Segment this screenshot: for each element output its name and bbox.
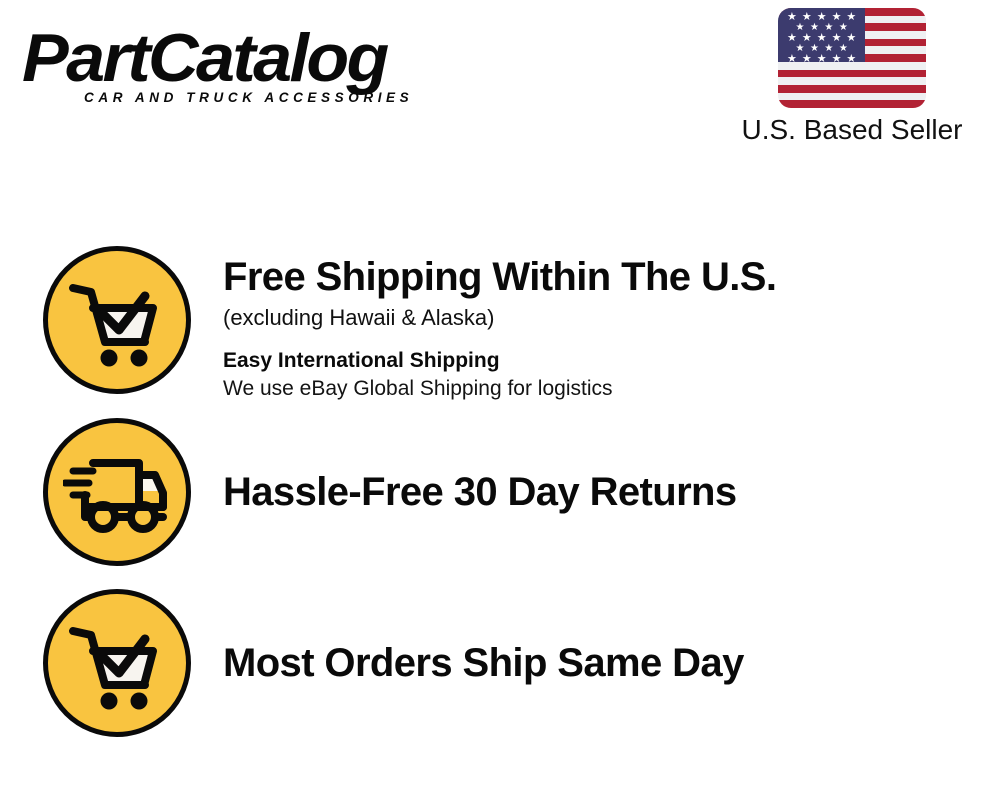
star-row: ★★★★★ [782,33,861,44]
us-flag-icon: ★★★★★ ★★★★ ★★★★★ ★★★★ ★★★★★ [778,8,926,108]
feature-heading: Free Shipping Within The U.S. [223,254,776,300]
us-based-seller-badge: ★★★★★ ★★★★ ★★★★★ ★★★★ ★★★★★ U.S. Based S… [716,8,988,146]
part-catalog-logo: PartCatalog CAR AND TRUCK ACCESSORIES [22,22,492,117]
delivery-truck-icon [43,418,191,566]
star-row: ★★★★★ [782,12,861,23]
feature-text: Free Shipping Within The U.S. (excluding… [223,246,776,403]
promo-banner: PartCatalog CAR AND TRUCK ACCESSORIES [0,0,1000,800]
feature-heading: Hassle-Free 30 Day Returns [223,469,737,515]
feature-note: (excluding Hawaii & Alaska) [223,303,776,333]
feature-row: Free Shipping Within The U.S. (excluding… [0,246,776,403]
seller-badge-label: U.S. Based Seller [742,114,963,146]
cart-check-icon [43,589,191,737]
feature-heading: Most Orders Ship Same Day [223,640,744,686]
brand-wordmark: PartCatalog [22,22,506,94]
feature-sub-heading: Easy International Shipping [223,346,776,375]
flag-canton: ★★★★★ ★★★★ ★★★★★ ★★★★ ★★★★★ [778,8,865,62]
feature-row: Most Orders Ship Same Day [0,589,744,737]
feature-text: Hassle-Free 30 Day Returns [223,469,737,515]
feature-sub-text: We use eBay Global Shipping for logistic… [223,375,776,403]
feature-text: Most Orders Ship Same Day [223,640,744,686]
star-row: ★★★★★ [782,54,861,65]
feature-row: Hassle-Free 30 Day Returns [0,418,737,566]
cart-check-icon [43,246,191,394]
